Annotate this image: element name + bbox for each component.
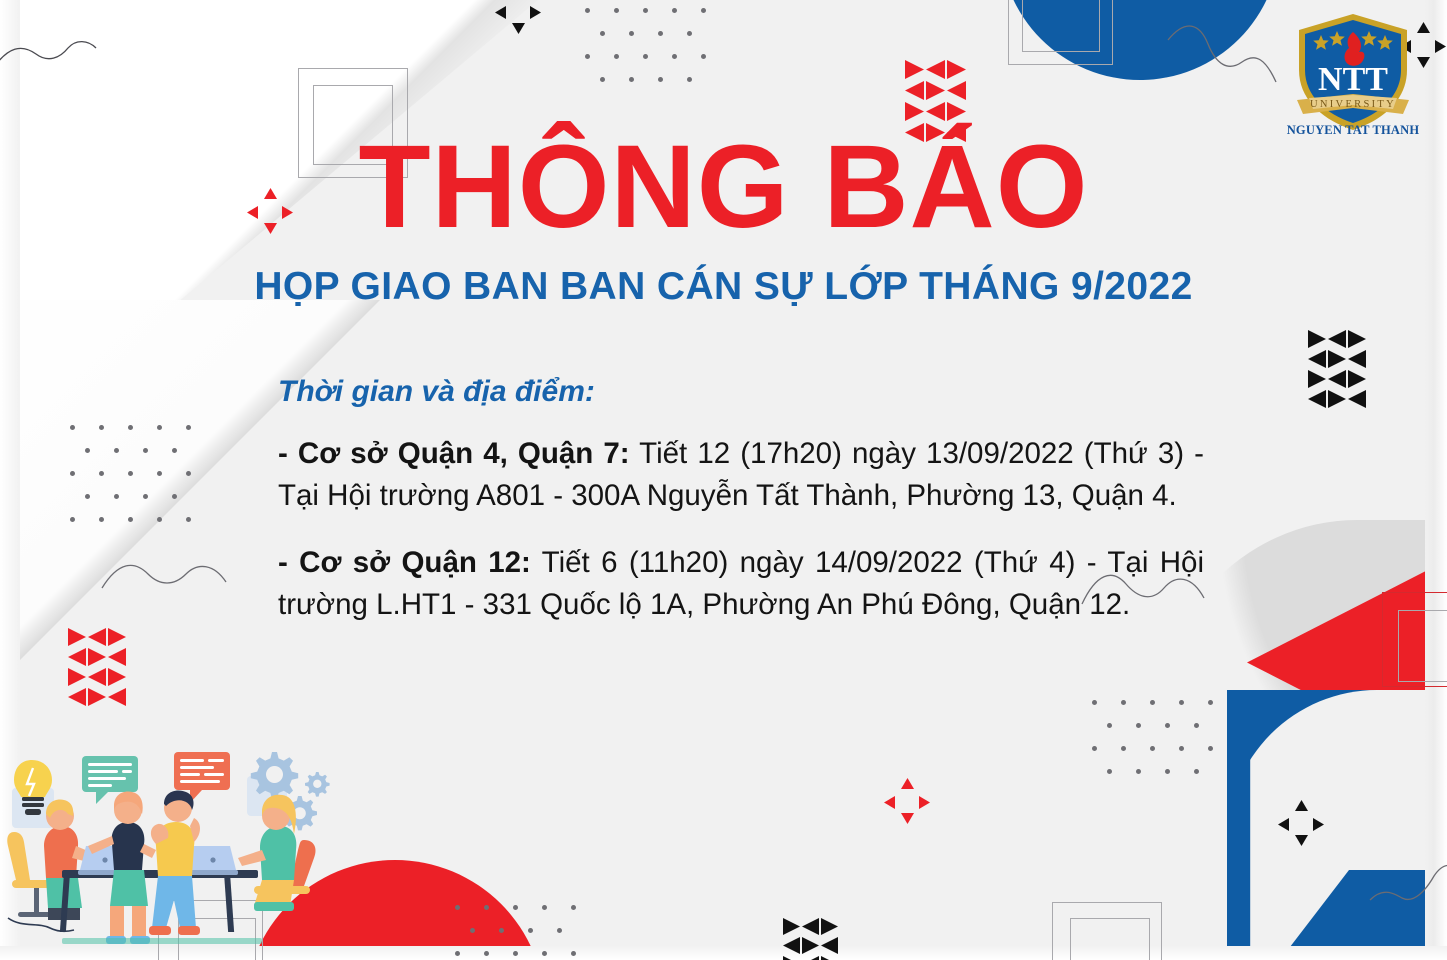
dot: [1179, 746, 1184, 751]
dot: [484, 951, 489, 956]
list-item: - Cơ sở Quận 4, Quận 7: Tiết 12 (17h20) …: [278, 433, 1204, 516]
outline-square-right-gray: [1398, 610, 1447, 682]
diamond-arrows-icon-bottomright: [1278, 800, 1324, 846]
dot: [172, 448, 177, 453]
triangle-tile: [905, 81, 924, 100]
item-bullet: -: [278, 437, 288, 470]
item-bullet: -: [278, 546, 288, 579]
dot: [629, 31, 634, 36]
announcement-poster: NTT UNIVERSITY NGUYEN TAT THANH THÔNG BÁ…: [0, 0, 1447, 960]
triangle-tile: [947, 60, 966, 79]
dot: [186, 425, 191, 430]
dot: [1208, 700, 1213, 705]
dot: [629, 77, 634, 82]
triangle-tile: [783, 918, 800, 935]
list-item: - Cơ sở Quận 12: Tiết 6 (11h20) ngày 14/…: [278, 542, 1204, 625]
dot: [672, 8, 677, 13]
dot: [99, 425, 104, 430]
dot: [128, 471, 133, 476]
black-triangle-grid-bottom: [783, 918, 838, 960]
triangle-tile: [88, 688, 106, 706]
dot: [1136, 769, 1141, 774]
dot: [557, 928, 562, 933]
triangle-tile: [88, 668, 106, 686]
dot: [614, 54, 619, 59]
triangle-tile: [1328, 350, 1346, 368]
floor-strip: [62, 938, 262, 944]
triangle-tile: [926, 60, 945, 79]
dot: [701, 54, 706, 59]
triangle-tile: [905, 102, 924, 121]
dot: [85, 448, 90, 453]
triangle-tile: [108, 668, 126, 686]
dot: [1121, 746, 1126, 751]
triangle-tile: [821, 937, 838, 954]
triangle-tile: [68, 688, 86, 706]
dot: [687, 31, 692, 36]
triangle-tile: [947, 102, 966, 121]
dot: [70, 471, 75, 476]
dot: [1194, 769, 1199, 774]
section-label: Thời gian và địa điểm:: [278, 375, 1204, 409]
dot: [600, 77, 605, 82]
triangle-tile: [1308, 370, 1326, 388]
squiggle-line-bottomright: [1368, 862, 1447, 910]
dot: [114, 494, 119, 499]
logo-ribbon-text: UNIVERSITY: [1310, 99, 1396, 110]
dot: [1136, 723, 1141, 728]
diamond-arrows-icon-bottom: [884, 778, 930, 824]
dot: [701, 8, 706, 13]
triangle-tile: [88, 628, 106, 646]
triangle-tile: [783, 937, 800, 954]
dot: [85, 494, 90, 499]
dot: [571, 951, 576, 956]
dot: [571, 905, 576, 910]
black-triangle-grid-right: [1308, 330, 1366, 408]
dot: [542, 905, 547, 910]
dot: [128, 517, 133, 522]
outline-square-bottomright-2: [1070, 918, 1150, 960]
triangle-tile: [1348, 370, 1366, 388]
dot: [672, 54, 677, 59]
dot: [99, 517, 104, 522]
triangle-tile: [1308, 350, 1326, 368]
dot-grid-top-center: [585, 8, 715, 98]
squiggle-line-topleft: [0, 40, 100, 80]
item-lead: Cơ sở Quận 12:: [299, 546, 531, 579]
triangle-tile: [108, 648, 126, 666]
laptop-right: [186, 846, 238, 875]
triangle-tile: [1328, 390, 1346, 408]
triangle-tile: [108, 688, 126, 706]
logo-monogram: NTT: [1318, 61, 1388, 98]
dot: [687, 77, 692, 82]
dot: [455, 905, 460, 910]
dot: [499, 928, 504, 933]
triangle-tile: [1348, 350, 1366, 368]
dot: [542, 951, 547, 956]
triangle-tile: [926, 102, 945, 121]
dot-grid-left: [70, 425, 210, 535]
dot: [600, 31, 605, 36]
dot: [1150, 700, 1155, 705]
dot: [1165, 723, 1170, 728]
dot: [186, 517, 191, 522]
triangle-tile: [68, 668, 86, 686]
person-seated-right: [238, 795, 296, 911]
item-lead: Cơ sở Quận 4, Quận 7:: [298, 437, 630, 470]
squiggle-line-topright: [1164, 10, 1284, 98]
dot: [143, 448, 148, 453]
triangle-tile: [821, 956, 838, 960]
dot: [99, 471, 104, 476]
diamond-arrows-icon-top: [495, 0, 541, 34]
triangle-tile: [802, 956, 819, 960]
dot: [114, 448, 119, 453]
dot: [186, 471, 191, 476]
dot: [455, 951, 460, 956]
dot: [1179, 700, 1184, 705]
dot: [1150, 746, 1155, 751]
page-title: THÔNG BÁO: [0, 128, 1447, 246]
dot: [585, 54, 590, 59]
dot: [658, 31, 663, 36]
triangle-tile: [905, 60, 924, 79]
dot: [70, 425, 75, 430]
dot: [157, 517, 162, 522]
dot: [1194, 723, 1199, 728]
red-triangle-grid-left: [68, 628, 126, 706]
dot: [143, 494, 148, 499]
triangle-tile: [68, 648, 86, 666]
dot: [513, 905, 518, 910]
dot: [157, 471, 162, 476]
dot: [1107, 723, 1112, 728]
triangle-tile: [947, 81, 966, 100]
dot-grid-bottom-right: [1092, 700, 1222, 795]
dot: [1121, 700, 1126, 705]
dot: [614, 8, 619, 13]
dot: [528, 928, 533, 933]
triangle-tile: [1308, 390, 1326, 408]
dot: [1165, 769, 1170, 774]
triangle-tile: [108, 628, 126, 646]
dot: [658, 77, 663, 82]
squiggle-line-left: [100, 552, 230, 612]
dot: [1092, 746, 1097, 751]
triangle-tile: [1328, 330, 1346, 348]
dot: [128, 425, 133, 430]
dot: [484, 905, 489, 910]
dot: [470, 928, 475, 933]
triangle-tile: [1308, 330, 1326, 348]
dot: [157, 425, 162, 430]
dot: [1092, 700, 1097, 705]
meeting-illustration: [4, 730, 354, 960]
triangle-tile: [88, 648, 106, 666]
triangle-tile: [783, 956, 800, 960]
triangle-tile: [802, 937, 819, 954]
triangle-tile: [802, 918, 819, 935]
person-standing-man: [149, 791, 200, 936]
dot: [70, 517, 75, 522]
dot: [513, 951, 518, 956]
triangle-tile: [926, 81, 945, 100]
dot: [643, 54, 648, 59]
outline-square-topright-2: [1022, 0, 1100, 52]
dot: [1208, 746, 1213, 751]
dot: [172, 494, 177, 499]
triangle-tile: [821, 918, 838, 935]
page-subtitle: HỌP GIAO BAN BAN CÁN SỰ LỚP THÁNG 9/2022: [0, 265, 1447, 309]
dot: [643, 8, 648, 13]
announcement-body: Thời gian và địa điểm: - Cơ sở Quận 4, Q…: [278, 375, 1204, 651]
triangle-tile: [1348, 330, 1366, 348]
triangle-tile: [68, 628, 86, 646]
dot: [585, 8, 590, 13]
dot: [1107, 769, 1112, 774]
triangle-tile: [1328, 370, 1346, 388]
triangle-tile: [1348, 390, 1366, 408]
university-logo: NTT UNIVERSITY NGUYEN TAT THANH: [1283, 8, 1423, 138]
dot-grid-bottom-center: [455, 905, 585, 960]
